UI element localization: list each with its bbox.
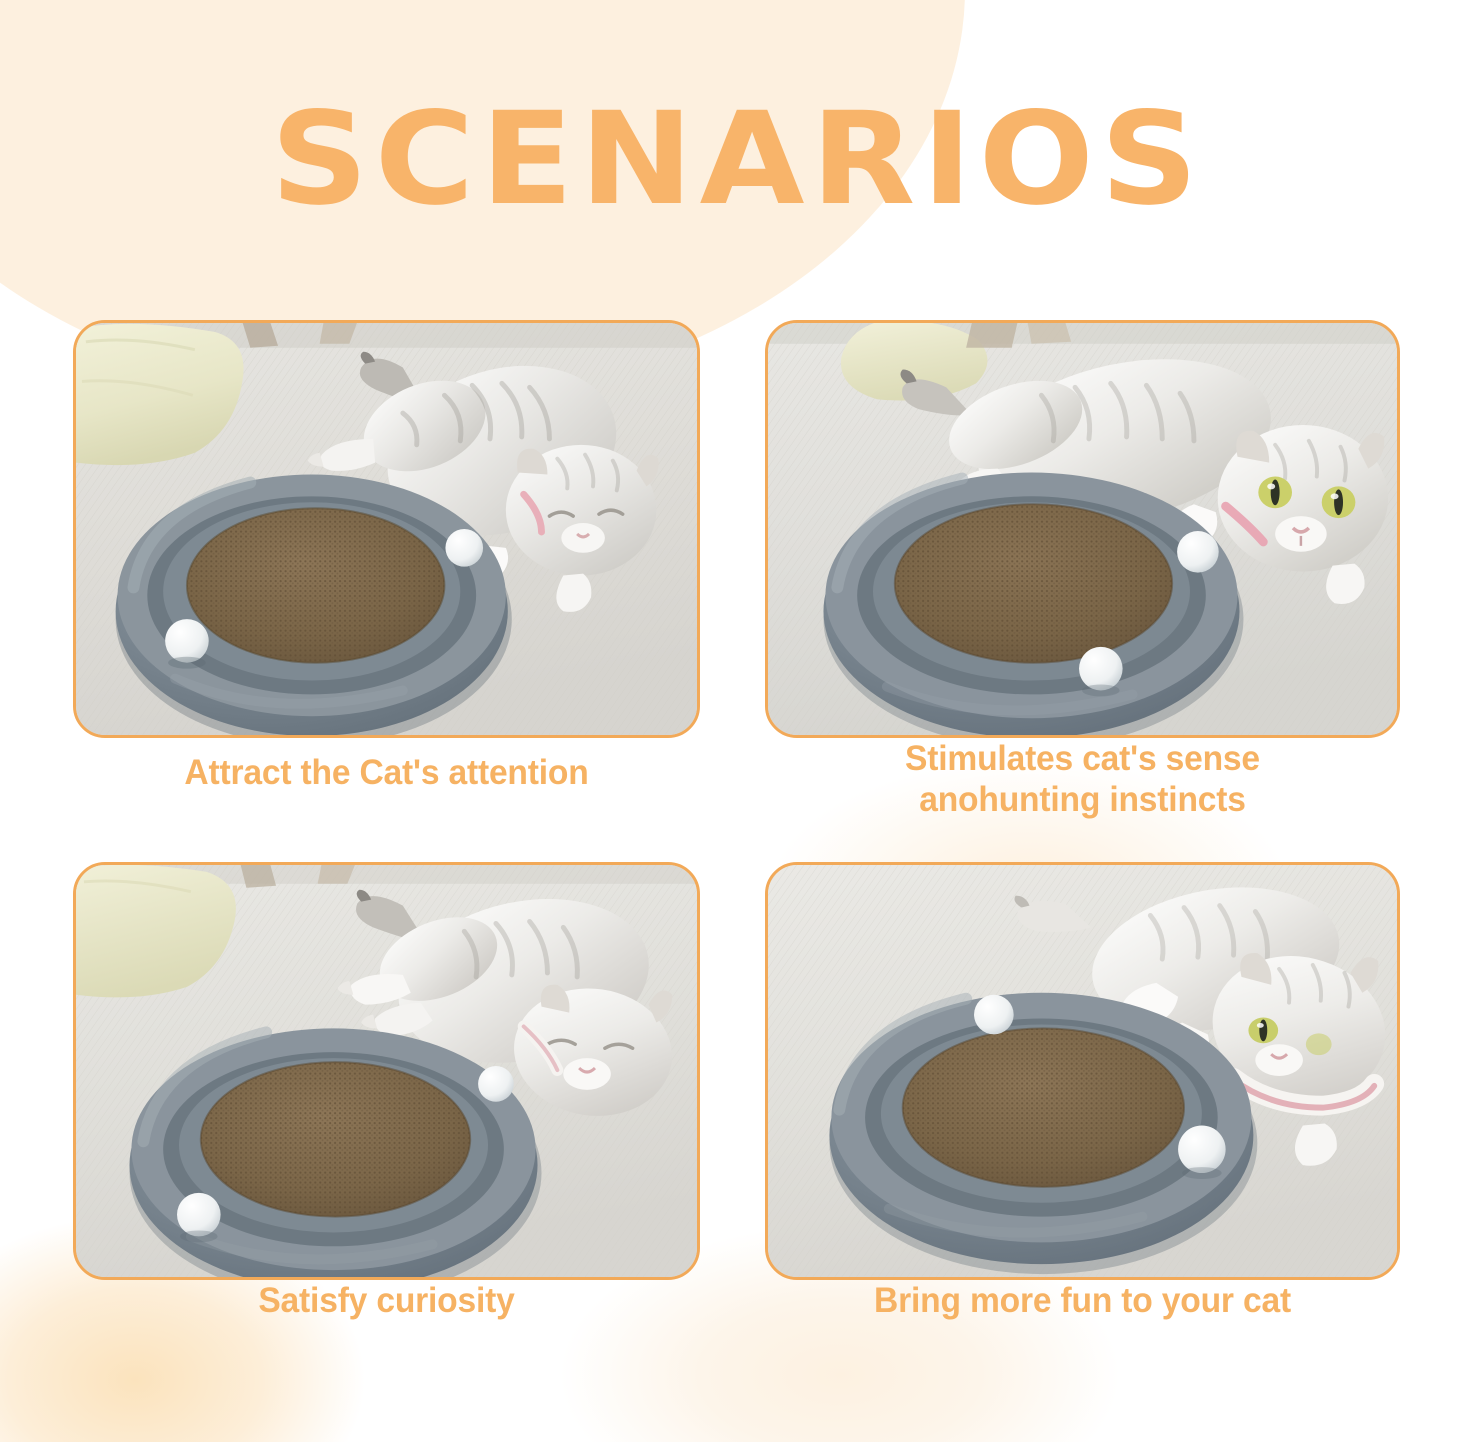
- toy-ball: [177, 1193, 221, 1237]
- page-header: SCENARIOS: [0, 96, 1474, 224]
- toy-ball: [974, 995, 1014, 1035]
- scenario-card: Satisfy curiosity: [73, 862, 700, 1280]
- scenario-photo-satisfy-curiosity: [73, 862, 700, 1280]
- cat-toy-illustration: [823, 473, 1243, 735]
- toy-ball: [1079, 647, 1123, 691]
- scenario-caption: Bring more fun to your cat: [778, 1280, 1388, 1321]
- scenario-photo-stimulate-senses: [765, 320, 1400, 738]
- toy-ball: [478, 1066, 514, 1102]
- cat-toy-illustration: [829, 993, 1257, 1274]
- toy-ball: [1178, 1125, 1226, 1173]
- scenario-caption: Satisfy curiosity: [86, 1280, 688, 1321]
- page-title: SCENARIOS: [270, 96, 1204, 224]
- photo-illustration: [76, 865, 697, 1277]
- scenario-card: Attract the Cat's attention: [73, 320, 700, 738]
- scenario-photo-attract-attention: [73, 320, 700, 738]
- scenario-card: Bring more fun to your cat: [765, 862, 1400, 1280]
- photo-illustration: [76, 323, 697, 735]
- photo-illustration: [768, 323, 1397, 735]
- cat-toy-illustration: [116, 475, 512, 735]
- scenario-caption: Attract the Cat's attention: [86, 752, 688, 793]
- scenario-photo-bring-fun: [765, 862, 1400, 1280]
- photo-illustration: [768, 865, 1397, 1277]
- toy-ball: [445, 529, 483, 567]
- toy-ball: [165, 619, 209, 663]
- toy-ball: [1177, 531, 1219, 573]
- cat-eye: [1306, 1033, 1332, 1055]
- scenario-card: Stimulates cat's sense anohunting instin…: [765, 320, 1400, 738]
- scenario-caption: Stimulates cat's sense anohunting instin…: [778, 738, 1388, 821]
